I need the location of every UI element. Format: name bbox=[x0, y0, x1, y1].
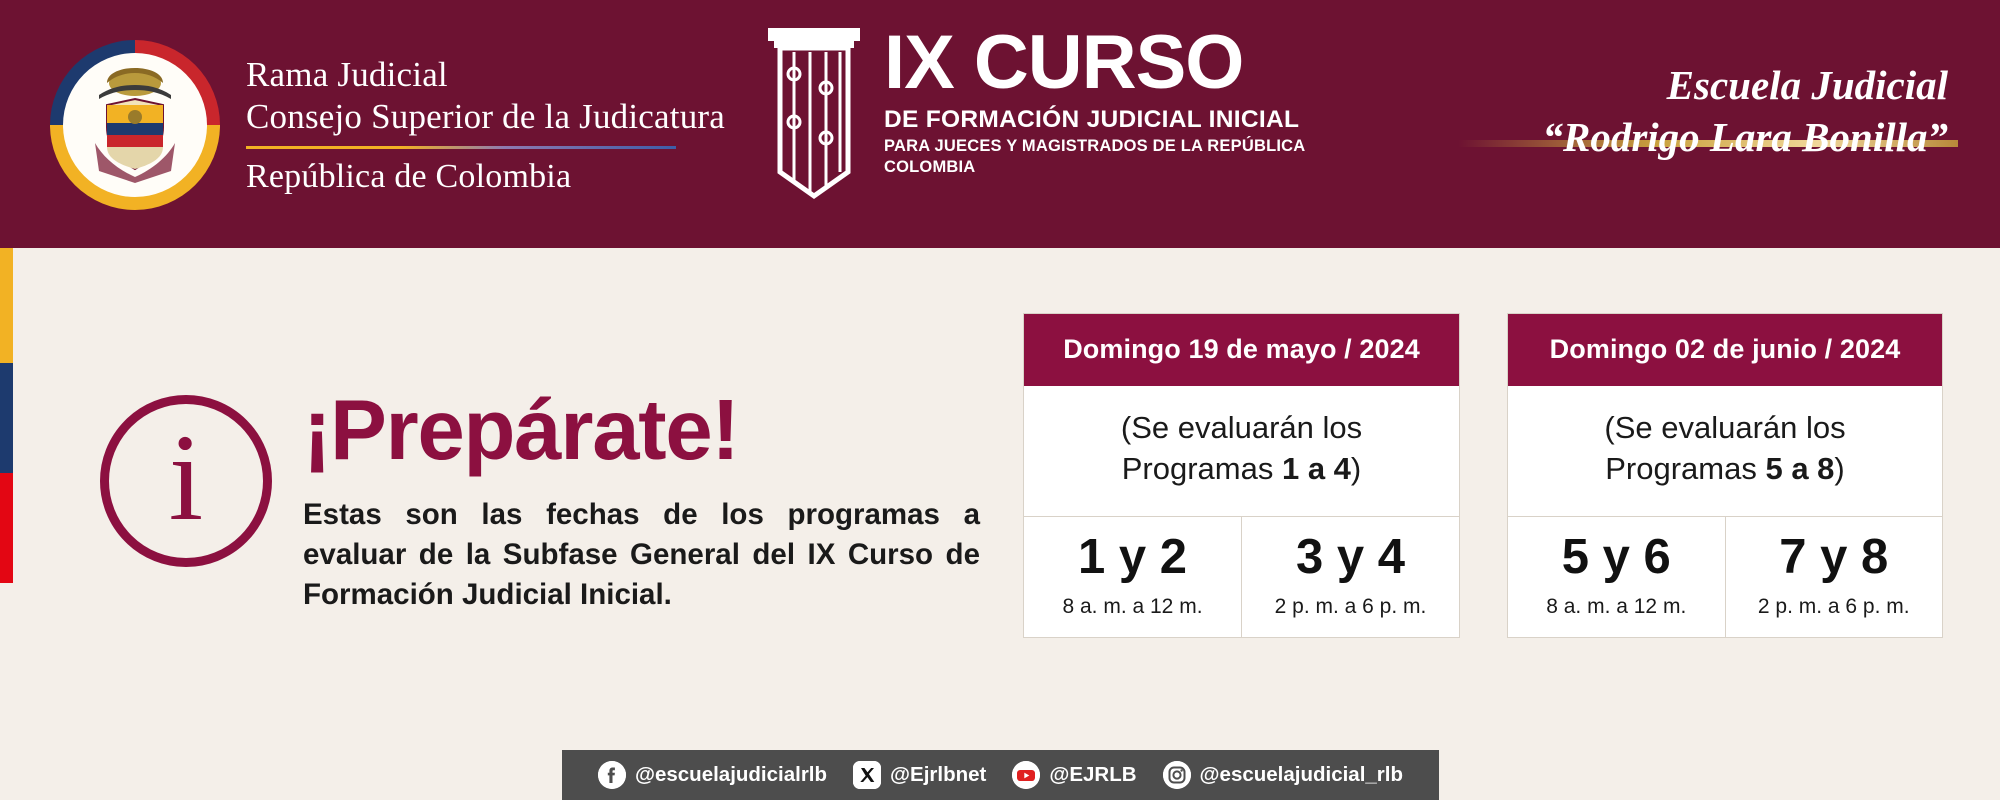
facebook-icon[interactable] bbox=[598, 761, 626, 789]
social-item-facebook[interactable]: @escuelajudicialrlb bbox=[598, 761, 827, 789]
date-card-2: Domingo 02 de junio / 2024 (Se evaluarán… bbox=[1507, 313, 1943, 638]
course-subtitle-2: PARA JUECES Y MAGISTRADOS DE LA REPÚBLIC… bbox=[884, 137, 1305, 156]
flag-stripe-blue bbox=[0, 363, 13, 473]
date-card-2-slot-2-programs: 7 y 8 bbox=[1732, 531, 1937, 584]
social-item-x[interactable]: @Ejrlbnet bbox=[853, 761, 986, 789]
date-card-1-slot-1: 1 y 2 8 a. m. a 12 m. bbox=[1024, 517, 1241, 637]
info-icon-glyph: i bbox=[169, 416, 203, 540]
colombia-seal bbox=[50, 40, 220, 210]
date-card-1-note: (Se evaluarán los Programas 1 a 4) bbox=[1024, 386, 1459, 517]
flag-stripe-red bbox=[0, 473, 13, 583]
school-line2: “Rodrigo Lara Bonilla” bbox=[1408, 112, 1948, 164]
date-card-2-note: (Se evaluarán los Programas 5 a 8) bbox=[1508, 386, 1942, 517]
page-description: Estas son las fechas de los programas a … bbox=[303, 495, 980, 614]
date-card-1-note-bold: 1 a 4 bbox=[1282, 451, 1351, 486]
social-handle-youtube: @EJRLB bbox=[1049, 763, 1136, 787]
seal-inner bbox=[63, 53, 207, 197]
date-card-2-note-pre: (Se evaluarán los bbox=[1604, 410, 1845, 445]
course-lockup: IX CURSO DE FORMACIÓN JUDICIAL INICIAL P… bbox=[760, 22, 1360, 222]
date-card-2-slot-1-programs: 5 y 6 bbox=[1514, 531, 1719, 584]
social-handle-facebook: @escuelajudicialrlb bbox=[635, 763, 827, 787]
course-subtitle-1: DE FORMACIÓN JUDICIAL INICIAL bbox=[884, 106, 1305, 134]
institution-line1: Rama Judicial bbox=[246, 54, 725, 95]
date-card-2-slot-1: 5 y 6 8 a. m. a 12 m. bbox=[1508, 517, 1725, 637]
school-line1: Escuela Judicial bbox=[1408, 60, 1948, 112]
coat-of-arms-icon bbox=[77, 65, 193, 185]
date-card-2-note-post: ) bbox=[1834, 451, 1844, 486]
course-title: IX CURSO bbox=[884, 26, 1305, 100]
social-item-instagram[interactable]: @escuelajudicial_rlb bbox=[1163, 761, 1403, 789]
institution-name: Rama Judicial Consejo Superior de la Jud… bbox=[246, 54, 725, 196]
social-handle-instagram: @escuelajudicial_rlb bbox=[1200, 763, 1403, 787]
institution-line3: República de Colombia bbox=[246, 158, 725, 196]
logo-divider bbox=[246, 146, 676, 149]
flag-stripe-blank bbox=[0, 583, 13, 800]
course-subtitle-3: COLOMBIA bbox=[884, 158, 1305, 177]
date-card-1-slot-2: 3 y 4 2 p. m. a 6 p. m. bbox=[1241, 517, 1459, 637]
institution-logo-block: Rama Judicial Consejo Superior de la Jud… bbox=[50, 30, 770, 220]
date-card-1-note-post: ) bbox=[1351, 451, 1361, 486]
school-name: Escuela Judicial “Rodrigo Lara Bonilla” bbox=[1408, 60, 1948, 163]
date-card-1: Domingo 19 de mayo / 2024 (Se evaluarán … bbox=[1023, 313, 1460, 638]
poster-page: Rama Judicial Consejo Superior de la Jud… bbox=[0, 0, 2000, 800]
date-card-1-note-mid: Programas bbox=[1122, 451, 1282, 486]
date-card-1-slot-1-time: 8 a. m. a 12 m. bbox=[1030, 595, 1235, 619]
date-card-2-note-mid: Programas bbox=[1605, 451, 1765, 486]
date-card-2-slot-2-time: 2 p. m. a 6 p. m. bbox=[1732, 595, 1937, 619]
date-card-1-slots: 1 y 2 8 a. m. a 12 m. 3 y 4 2 p. m. a 6 … bbox=[1024, 517, 1459, 637]
date-card-2-slot-1-time: 8 a. m. a 12 m. bbox=[1514, 595, 1719, 619]
institution-line2: Consejo Superior de la Judicatura bbox=[246, 96, 725, 137]
flag-stripe bbox=[0, 248, 13, 800]
page-title: ¡Prepárate! bbox=[303, 382, 739, 480]
date-card-1-slot-2-programs: 3 y 4 bbox=[1248, 531, 1453, 584]
flag-stripe-yellow bbox=[0, 248, 13, 363]
column-icon bbox=[760, 22, 868, 207]
date-card-1-slot-2-time: 2 p. m. a 6 p. m. bbox=[1248, 595, 1453, 619]
social-handle-x: @Ejrlbnet bbox=[890, 763, 986, 787]
info-icon: i bbox=[100, 395, 272, 567]
date-card-1-note-pre: (Se evaluarán los bbox=[1121, 410, 1362, 445]
date-card-1-slot-1-programs: 1 y 2 bbox=[1030, 531, 1235, 584]
social-item-youtube[interactable]: @EJRLB bbox=[1012, 761, 1136, 789]
date-card-2-note-bold: 5 a 8 bbox=[1765, 451, 1834, 486]
date-card-1-header: Domingo 19 de mayo / 2024 bbox=[1024, 314, 1459, 386]
date-card-2-slot-2: 7 y 8 2 p. m. a 6 p. m. bbox=[1725, 517, 1943, 637]
date-card-2-slots: 5 y 6 8 a. m. a 12 m. 7 y 8 2 p. m. a 6 … bbox=[1508, 517, 1942, 637]
instagram-icon[interactable] bbox=[1163, 761, 1191, 789]
youtube-icon[interactable] bbox=[1012, 761, 1040, 789]
date-card-2-header: Domingo 02 de junio / 2024 bbox=[1508, 314, 1942, 386]
x-twitter-icon[interactable] bbox=[853, 761, 881, 789]
header-banner: Rama Judicial Consejo Superior de la Jud… bbox=[0, 0, 2000, 248]
social-bar: @escuelajudicialrlb @Ejrlbnet @EJRLB bbox=[562, 750, 1439, 800]
